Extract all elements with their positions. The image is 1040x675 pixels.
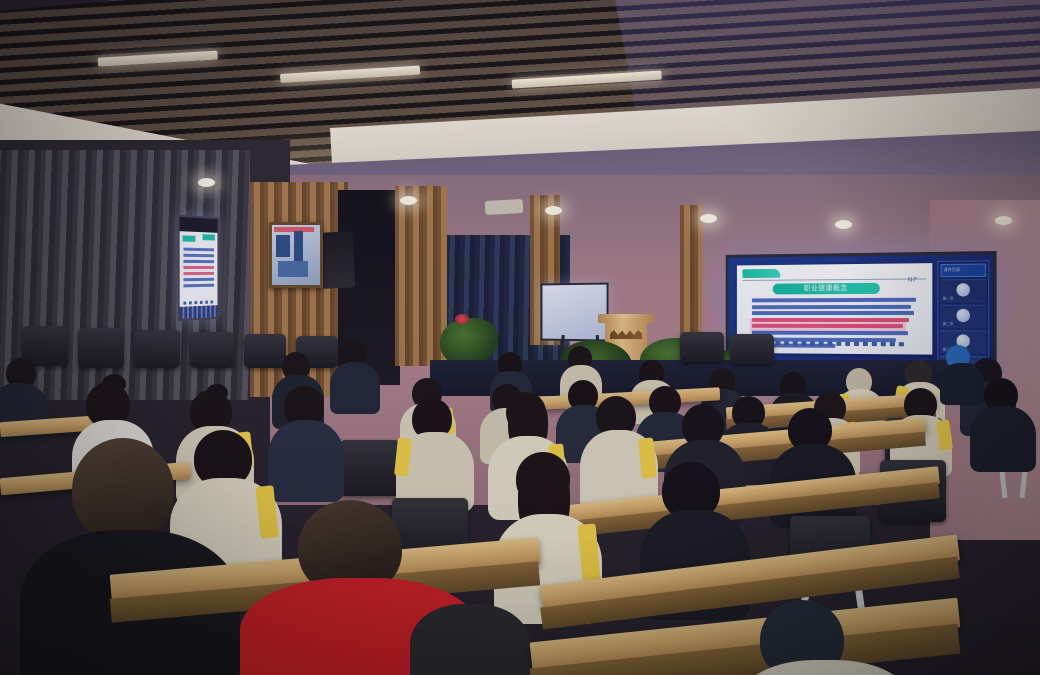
- person-body: [970, 406, 1036, 472]
- person-head: [506, 392, 546, 432]
- ceiling-projector: [485, 199, 524, 215]
- wood-slat-panel: [680, 205, 702, 335]
- aux-screen-bezel: [180, 217, 218, 233]
- aux-slide-footer: [183, 300, 214, 304]
- aux-slide-tab: [182, 235, 195, 242]
- empty-chair[interactable]: [190, 332, 234, 368]
- slide-text-line: [752, 331, 908, 336]
- aux-slide-line: [183, 254, 214, 257]
- person-body: [268, 420, 344, 502]
- aux-slide-title-band: [203, 234, 215, 240]
- poster-figure: [294, 231, 303, 261]
- slide-text-line: [752, 304, 911, 308]
- slide-highlight-line: [752, 318, 909, 322]
- aux-slide-line: [183, 284, 214, 287]
- slide-divider: [743, 278, 927, 281]
- aux-slide-line: [183, 278, 214, 281]
- aux-slide-highlight-line: [183, 272, 214, 275]
- aux-screen-taskbar: [180, 305, 218, 319]
- slide-watermark: NF: [908, 277, 918, 284]
- downlight: [995, 216, 1012, 225]
- sidebar-item[interactable]: 第二章: [941, 305, 987, 329]
- empty-chair[interactable]: [244, 334, 286, 368]
- person-body: [330, 362, 380, 414]
- circle-avatar-icon: [956, 309, 969, 322]
- slide-title: 职业健康概念: [773, 283, 880, 295]
- slide-text-line: [752, 298, 916, 303]
- whiteboard[interactable]: [541, 283, 609, 342]
- sidebar-item[interactable]: 第一章: [941, 279, 987, 303]
- slide-corner-tab: [743, 269, 781, 278]
- aux-slide-line: [183, 248, 214, 251]
- person-head: [72, 438, 174, 542]
- empty-chair[interactable]: [730, 334, 774, 364]
- downlight: [700, 214, 717, 223]
- poster-figure: [276, 235, 290, 257]
- aux-slide-highlight-line: [183, 266, 214, 269]
- person-body: [940, 363, 984, 405]
- framed-poster: [269, 222, 323, 288]
- slide-highlight-line: [752, 324, 903, 328]
- hoodie-shoulder: [410, 604, 530, 675]
- person-head: [516, 452, 570, 506]
- wall-speaker: [319, 231, 356, 289]
- chair[interactable]: [340, 440, 400, 496]
- conference-room-photo: 职业健康概念 NF 课件目录 第一章: [0, 0, 1040, 675]
- sidebar-item-label: 第二章: [943, 322, 954, 327]
- red-flowers: [455, 314, 469, 324]
- empty-chair[interactable]: [134, 330, 180, 368]
- sidebar-header-label: 课件目录: [944, 267, 960, 273]
- circle-avatar-icon: [956, 283, 969, 296]
- empty-chair[interactable]: [78, 328, 124, 368]
- secondary-wall-display[interactable]: [178, 215, 219, 322]
- downlight: [198, 178, 215, 187]
- sidebar-header: 课件目录: [941, 263, 987, 277]
- poster-figure: [278, 261, 308, 277]
- aux-slide-line: [183, 260, 214, 263]
- downlight: [545, 206, 562, 215]
- downlight: [400, 196, 417, 205]
- empty-chair[interactable]: [680, 332, 724, 362]
- slide-text-line: [752, 311, 914, 315]
- sidebar-item-label: 第一章: [943, 297, 954, 302]
- downlight: [835, 220, 852, 229]
